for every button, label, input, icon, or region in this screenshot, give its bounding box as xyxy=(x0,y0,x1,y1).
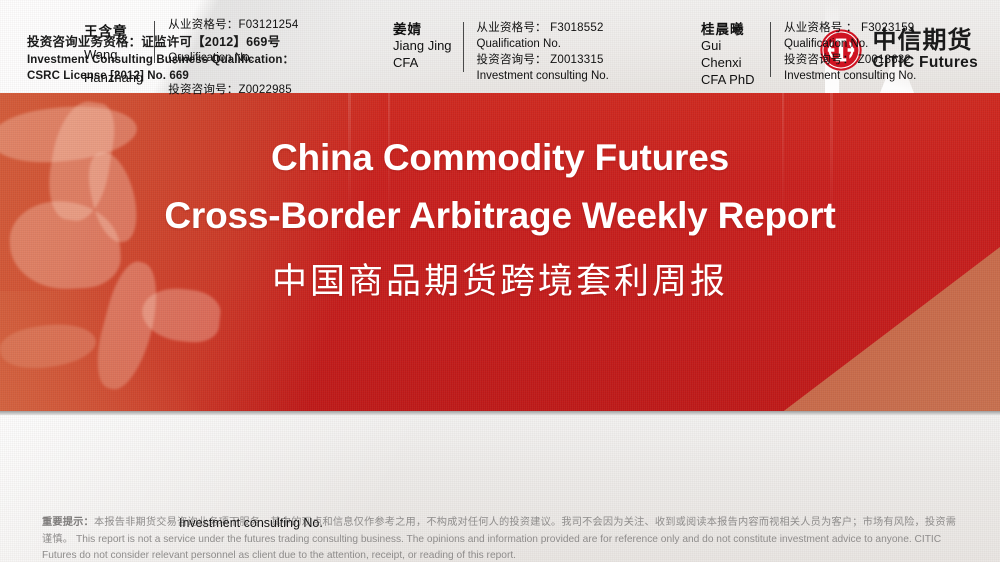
disclaimer-label: 重要提示： xyxy=(42,517,94,528)
report-cover-page: 投资咨询业务资格：证监许可【2012】669号 Investment Consu… xyxy=(0,0,1000,562)
author-credentials: 从业资格号 ： F3023159 Qualification No. 投资咨询号… xyxy=(771,21,916,84)
author-consulting-en: Investment consulting No. xyxy=(784,69,916,85)
author-name-en-line3: CFA PhD xyxy=(701,72,759,89)
report-title-en-line2: Cross-Border Arbitrage Weekly Report xyxy=(0,197,1000,234)
author-name-cn: 王含章 xyxy=(84,20,143,43)
report-title-cn: 中国商品期货跨境套利周报 xyxy=(0,264,1000,299)
author-qualification-cn: 从业资格号 ： F3023159 xyxy=(784,21,916,37)
author-qualification-cn: 从业资格号：F03121254 xyxy=(168,20,298,32)
author-qualification-en: Qualification No. xyxy=(477,37,609,53)
author-consulting-en: Investment consulting No. xyxy=(179,516,323,530)
disclaimer-en: This report is not a service under the f… xyxy=(42,534,941,562)
author-name-en-line2: Hanzhang xyxy=(84,67,143,89)
author-name-en-line2: Chenxi xyxy=(701,55,759,72)
author-entry: 桂晨曦 Gui Chenxi CFA PhD 从业资格号 ： F3023159 … xyxy=(701,21,916,88)
author-qualification-en: Qualification No. xyxy=(168,53,298,65)
author-qualification-cn: 从业资格号： F3018552 xyxy=(477,21,609,37)
author-name-block: 桂晨曦 Gui Chenxi CFA PhD xyxy=(701,21,770,88)
author-consulting-en: Investment consulting No. xyxy=(477,69,609,85)
author-name-en-line1: Gui xyxy=(701,38,759,55)
author-name-block: 姜婧 Jiang Jing CFA xyxy=(393,21,463,72)
title-banner: China Commodity Futures Cross-Border Arb… xyxy=(0,93,1000,411)
report-title-en-line1: China Commodity Futures xyxy=(0,139,1000,176)
author-name-cn: 桂晨曦 xyxy=(701,21,759,38)
author-name-cn: 姜婧 xyxy=(393,21,452,38)
author-entry: 姜婧 Jiang Jing CFA 从业资格号： F3018552 Qualif… xyxy=(393,21,609,84)
author-consulting-cn: 投资咨询号： Z0013632 xyxy=(784,53,916,69)
author-name-en-line2: CFA xyxy=(393,55,452,72)
author-name-en-line1: Wang xyxy=(84,44,143,66)
title-group: China Commodity Futures Cross-Border Arb… xyxy=(0,93,1000,299)
banner-bottom-left-wedge xyxy=(0,291,200,411)
author-consulting-cn: 投资咨询号： Z0013315 xyxy=(477,53,609,69)
author-credentials: 从业资格号： F3018552 Qualification No. 投资咨询号：… xyxy=(464,21,609,84)
author-qualification-en: Qualification No. xyxy=(784,37,916,53)
author-name-block: 王含章 Wang Hanzhang xyxy=(84,20,154,89)
author-name-en-line1: Jiang Jing xyxy=(393,38,452,55)
